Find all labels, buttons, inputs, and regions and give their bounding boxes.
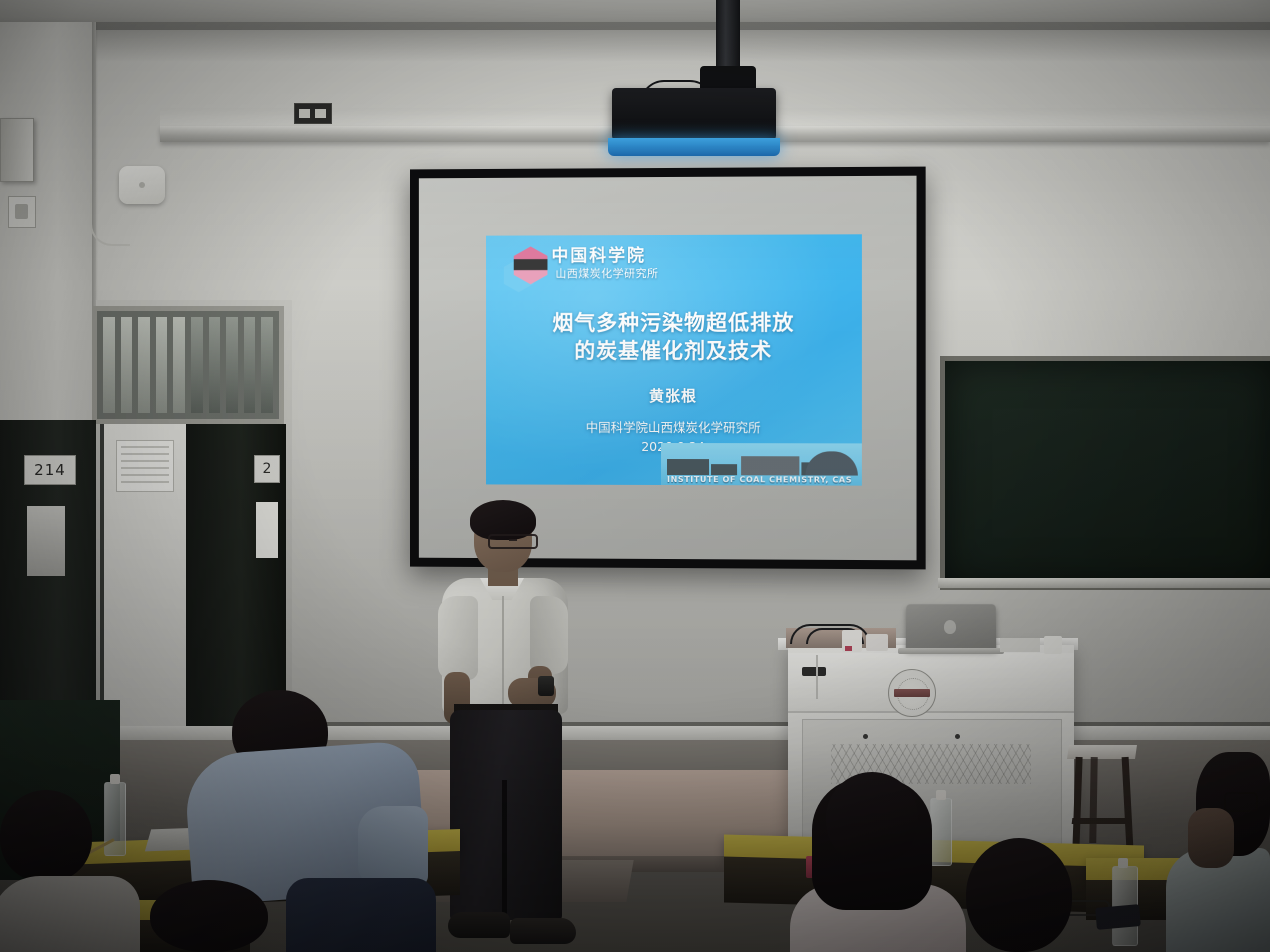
transom-window	[92, 306, 284, 424]
door-notice-sheet	[116, 440, 174, 492]
university-crest-icon	[888, 669, 936, 717]
panel-screw	[863, 734, 868, 739]
wall-outlet-icon	[294, 103, 332, 124]
water-bottle[interactable]	[104, 782, 126, 856]
adapter-indicator	[845, 646, 852, 651]
shirt-placket	[502, 596, 504, 708]
presentation-slide: 中国科学院 山西煤炭化学研究所 烟气多种污染物超低排放 的炭基催化剂及技术 黄张…	[486, 234, 862, 485]
audience-head-foreground-left-2	[150, 880, 268, 952]
podium-slot	[802, 667, 826, 676]
light-switch[interactable]	[8, 196, 36, 228]
slide-title-line2: 的炭基催化剂及技术	[486, 337, 862, 366]
room-number-plate: 214	[24, 455, 76, 485]
water-bottle[interactable]	[930, 798, 952, 866]
slide-footer-banner: INSTITUTE OF COAL CHEMISTRY, CAS	[661, 443, 862, 486]
smartphone[interactable]	[1095, 904, 1141, 930]
stool-rail	[1072, 818, 1131, 824]
slide-author: 黄张根	[486, 385, 862, 406]
speaker-shoe-left	[448, 912, 510, 938]
audience-shoulders-foreground-left	[0, 876, 140, 952]
trouser-seam	[502, 780, 507, 920]
power-adapter	[866, 634, 888, 651]
ceiling-projector-icon	[612, 88, 776, 140]
laptop-base	[898, 648, 1004, 654]
audience-head-foreground-left	[0, 790, 92, 882]
door-number-plate: 2	[254, 455, 280, 483]
student-head	[826, 772, 918, 864]
building-dome	[805, 451, 857, 475]
audience-head-right-center	[966, 838, 1072, 952]
chalk-tray-right	[938, 578, 1270, 588]
laptop-icon[interactable]	[906, 604, 997, 650]
slide-title: 烟气多种污染物超低排放 的炭基催化剂及技术	[486, 309, 862, 366]
slide-affiliation: 中国科学院山西煤炭化学研究所	[486, 419, 862, 438]
presenter-clicker-icon	[538, 676, 554, 696]
student-arm	[358, 806, 428, 886]
paper-cup	[1044, 636, 1062, 654]
podium-upper-face	[788, 653, 1074, 713]
slide-title-line1: 烟气多种污染物超低排放	[486, 309, 862, 338]
blackboard-right	[940, 356, 1270, 590]
glasses-icon	[488, 534, 538, 549]
slide-logo-org: 中国科学院	[551, 241, 646, 266]
hanging-cable	[816, 655, 818, 699]
projector-light-glow	[608, 138, 780, 156]
window-louvres	[103, 317, 273, 413]
stool-leg	[1089, 757, 1097, 843]
speaker-sleeve-right	[530, 596, 568, 674]
student-lower-body	[286, 878, 436, 952]
white-box	[1000, 638, 1040, 652]
glasses-icon	[1224, 792, 1258, 812]
slide-logo-institute: 山西煤炭化学研究所	[555, 265, 658, 281]
ceiling-shadow	[0, 22, 1270, 62]
wall-utility-box	[0, 118, 34, 182]
cas-hexagon-logo-icon	[498, 244, 550, 292]
panel-screw	[955, 734, 960, 739]
wifi-ap-icon	[119, 166, 165, 204]
speaker-shoe-right	[510, 918, 576, 944]
lecture-hall-photo: 214 2 中国科学院 山西煤炭化学研究所 烟气多种污染物超低排放 的炭基催化剂…	[0, 0, 1270, 952]
door-right-paper	[256, 502, 278, 558]
slide-banner-text: INSTITUTE OF COAL CHEMISTRY, CAS	[667, 475, 852, 485]
door-left-glass	[27, 506, 65, 576]
person-hand	[1188, 808, 1234, 868]
speaker-sleeve-left	[438, 596, 478, 680]
